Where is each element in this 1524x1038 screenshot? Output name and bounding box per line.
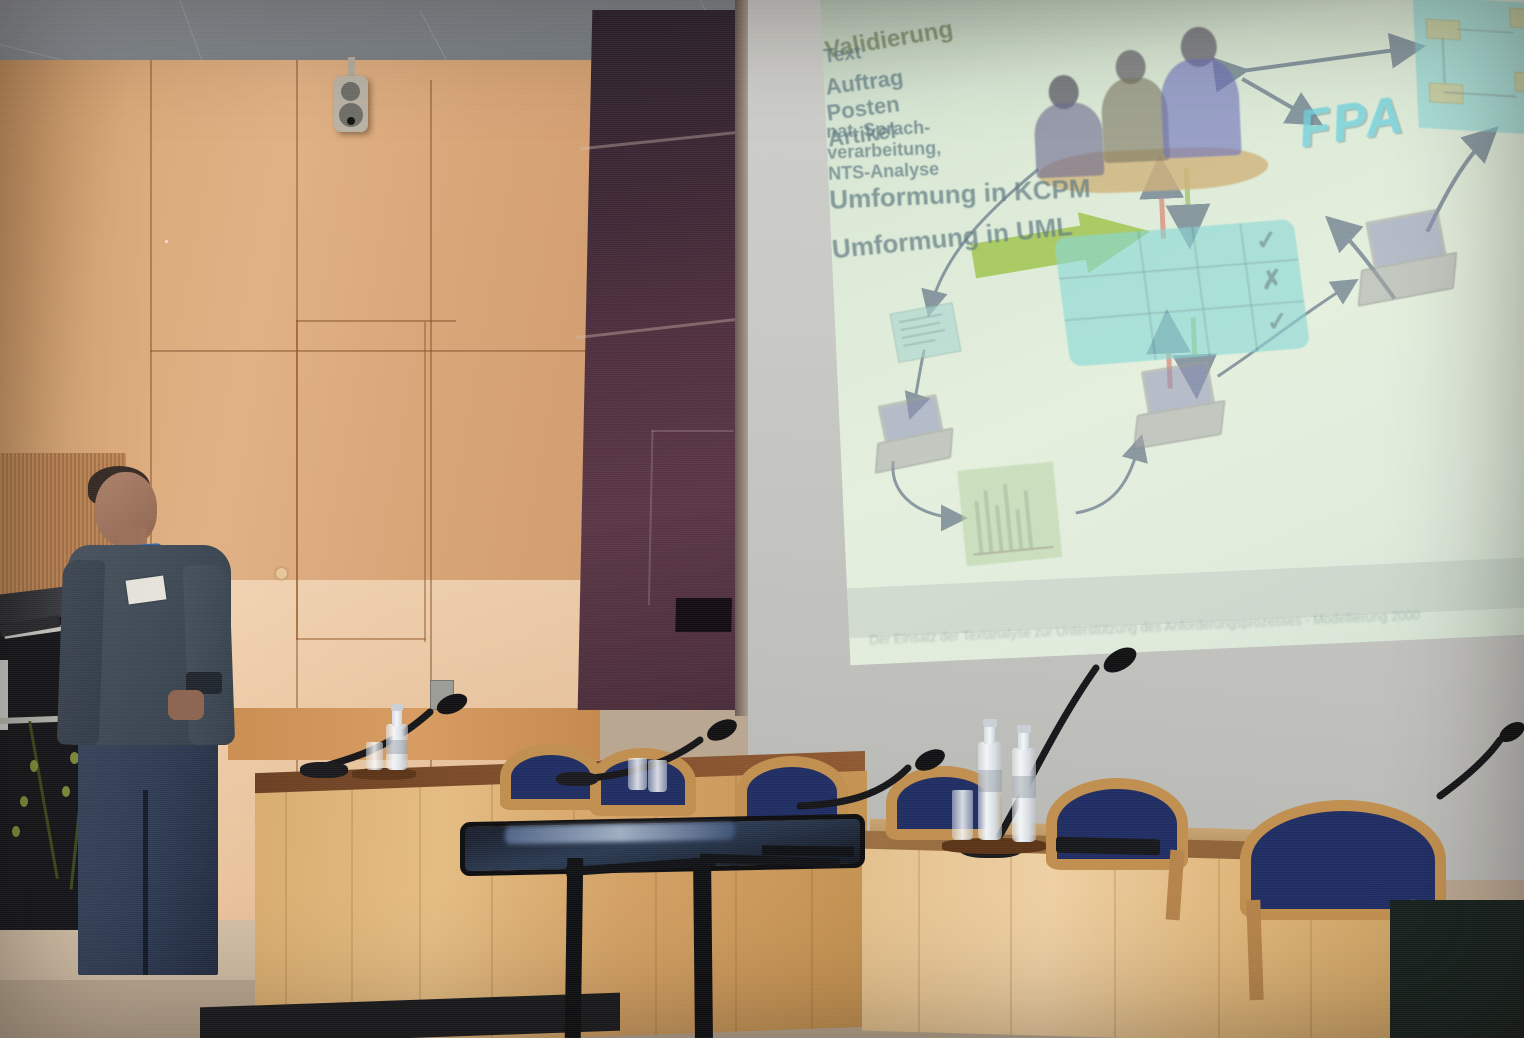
bottle-label	[386, 740, 408, 754]
drinking-glass	[952, 790, 973, 840]
drinking-glass	[366, 742, 383, 770]
cart-leg	[693, 858, 713, 1038]
bottle-cap	[391, 704, 403, 711]
microphones	[0, 0, 1524, 1038]
mic-capsule	[912, 745, 949, 775]
mic-capsule	[704, 715, 741, 745]
drinks-tray	[352, 768, 416, 780]
mic-gooseneck	[800, 768, 908, 806]
mic-gooseneck	[1440, 740, 1500, 796]
photo-scene: FPA Validierung Text	[0, 0, 1524, 1038]
cart-leg	[565, 858, 584, 1038]
bottle-neck	[1018, 730, 1029, 750]
drinking-glass	[648, 760, 667, 792]
bottle-neck	[984, 724, 995, 744]
mic-base	[300, 762, 348, 778]
mic-capsule	[434, 690, 470, 719]
mic-base	[556, 772, 598, 786]
cart-brace	[762, 845, 854, 857]
bottle-cap	[983, 719, 997, 727]
mic-gooseneck	[990, 668, 1096, 852]
mic-capsule	[1099, 642, 1140, 677]
bottle-label	[978, 770, 1002, 792]
desk-pad	[1056, 837, 1160, 856]
bottle-label	[1012, 776, 1036, 798]
bottle-cap	[1017, 725, 1031, 733]
drinking-glass	[628, 758, 647, 790]
